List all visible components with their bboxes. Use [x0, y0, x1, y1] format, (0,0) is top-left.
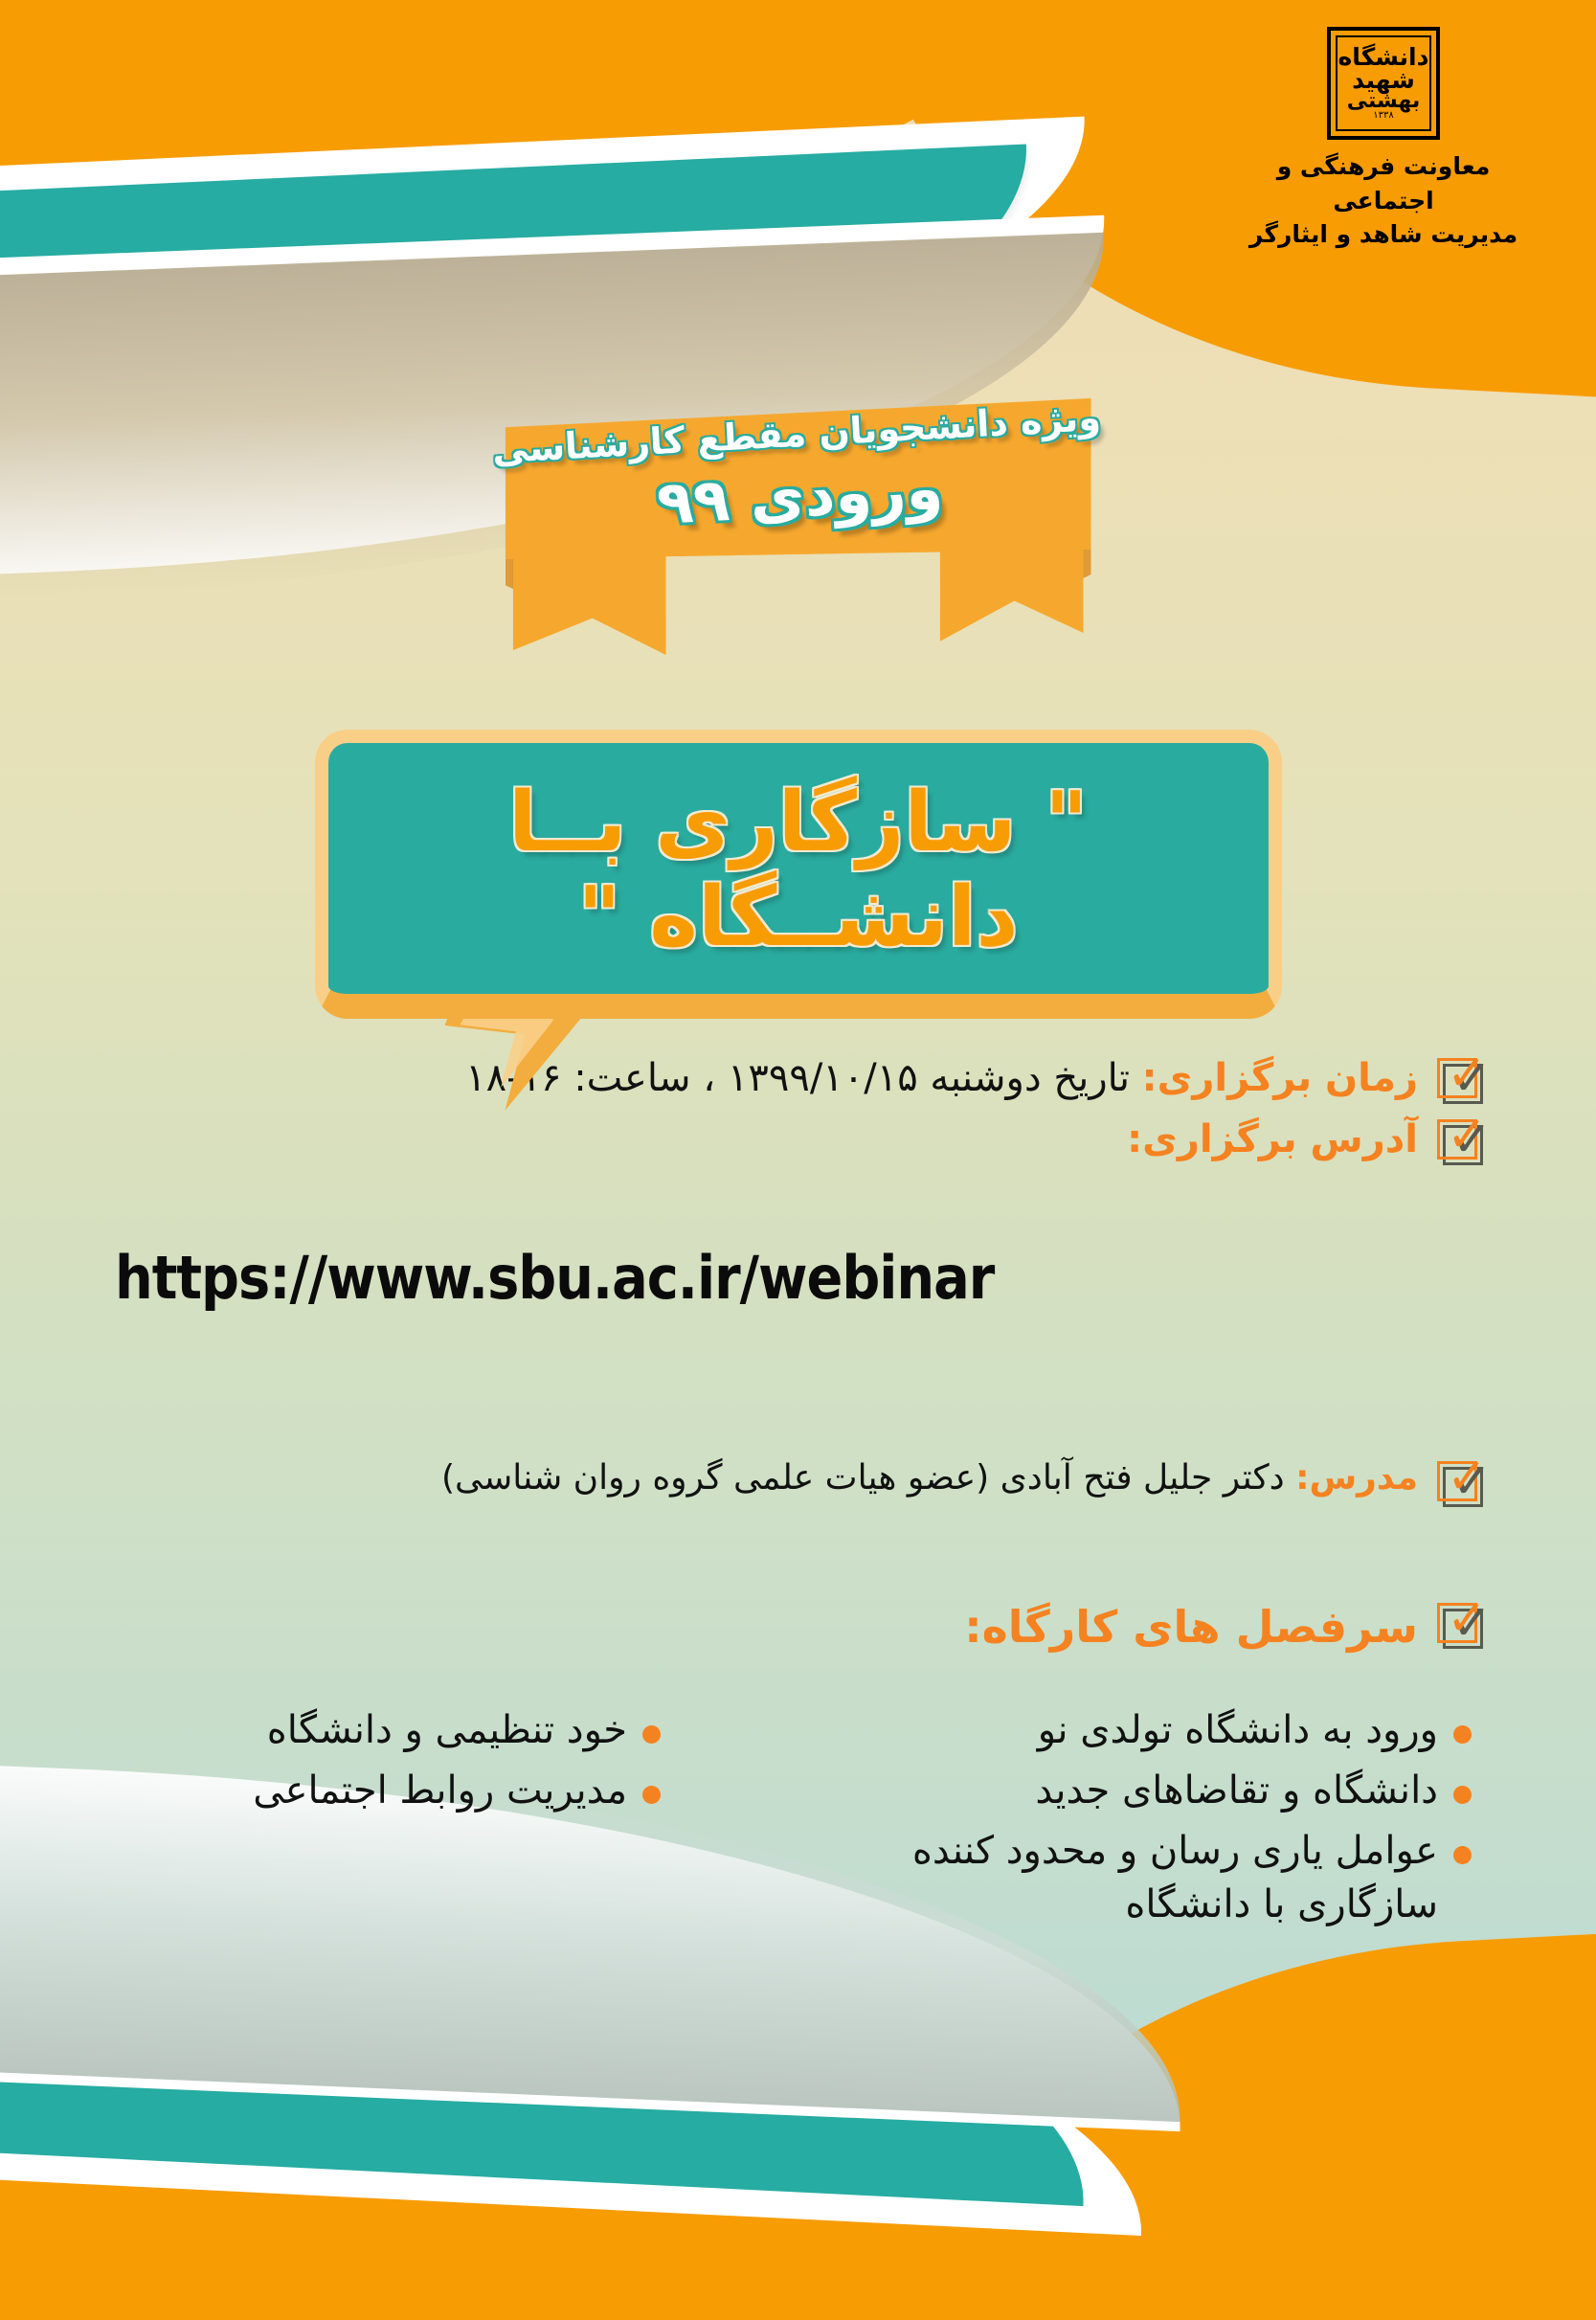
instructor-row: ✓ مدرس: دکتر جلیل فتح آبادی (عضو هیات عل…	[115, 1452, 1481, 1505]
checkbox-checked-icon: ✓	[1435, 1459, 1481, 1505]
checkbox-checked-icon: ✓	[1435, 1117, 1481, 1163]
event-time-row: ✓ زمان برگزاری: تاریخ دوشنبه ۱۳۹۹/۱۰/۱۵ …	[115, 1048, 1481, 1106]
event-address-label: آدرس برگزاری:	[1127, 1117, 1418, 1161]
bottom-right-orange-swoosh	[829, 1920, 1596, 2320]
syllabus-heading-block: ✓ سرفصل های کارگاه:	[115, 1593, 1481, 1663]
bullet-dot-icon	[1453, 1725, 1472, 1744]
logo-line-3: بهشتی	[1347, 92, 1420, 112]
list-item: عوامل یاری رسان و محدود کننده سازگاری با…	[859, 1825, 1472, 1930]
title-speech-bubble: " سازگاری بــا دانشــگاه "	[0, 730, 1596, 1019]
list-item: ورود به دانشگاه تولدی نو	[859, 1704, 1472, 1757]
syllabus-columns: ورود به دانشگاه تولدی نو دانشگاه و تقاضا…	[124, 1704, 1472, 1939]
bottom-right-white-swoosh	[810, 1890, 1596, 2320]
bullet-dot-icon	[1453, 1786, 1472, 1804]
checkbox-checked-icon: ✓	[1435, 1601, 1481, 1647]
instructor-block: ✓ مدرس: دکتر جلیل فتح آبادی (عضو هیات عل…	[115, 1452, 1481, 1509]
event-time-label: زمان برگزاری:	[1142, 1056, 1418, 1100]
bullet-dot-icon	[1453, 1846, 1472, 1864]
org-caption-line-1: معاونت فرهنگی و اجتماعی	[1240, 149, 1527, 217]
logo-year: ۱۳۳۸	[1373, 111, 1393, 121]
event-time-value: تاریخ دوشنبه ۱۳۹۹/۱۰/۱۵ ، ساعت: ۱۶-۱۸	[465, 1056, 1130, 1100]
logo-line-2: شهید	[1352, 69, 1415, 92]
event-details: ✓ زمان برگزاری: تاریخ دوشنبه ۱۳۹۹/۱۰/۱۵ …	[115, 1048, 1481, 1171]
list-item: مدیریت روابط اجتماعی	[124, 1765, 661, 1817]
top-left-orange-band	[0, 0, 1078, 284]
bottom-left-white-stripe	[0, 1887, 1156, 2236]
syllabus-heading-row: ✓ سرفصل های کارگاه:	[115, 1593, 1481, 1659]
poster-canvas: دانشگاه شهید بهشتی ۱۳۳۸ معاونت فرهنگی و …	[0, 0, 1596, 2320]
webinar-url[interactable]: https://www.sbu.ac.ir/webinar	[115, 1243, 994, 1313]
audience-ribbon-banner: ویژه دانشجویان مقطع کارشناسی ورودی ۹۹	[0, 383, 1596, 670]
syllabus-left-column: خود تنظیمی و دانشگاه مدیریت روابط اجتماع…	[124, 1704, 661, 1939]
page-title: " سازگاری بــا دانشــگاه "	[367, 776, 1230, 965]
bullet-dot-icon	[642, 1786, 661, 1804]
bottom-left-orange-band	[0, 2083, 1135, 2320]
syllabus-heading-label: سرفصل های کارگاه:	[964, 1593, 1418, 1659]
syllabus-right-column: ورود به دانشگاه تولدی نو دانشگاه و تقاضا…	[859, 1704, 1472, 1939]
instructor-label: مدرس:	[1295, 1458, 1418, 1498]
checkbox-checked-icon: ✓	[1435, 1056, 1481, 1102]
list-item: خود تنظیمی و دانشگاه	[124, 1704, 661, 1757]
university-logo-block: دانشگاه شهید بهشتی ۱۳۳۸ معاونت فرهنگی و …	[1240, 27, 1527, 252]
bullet-dot-icon	[642, 1725, 661, 1744]
list-item: دانشگاه و تقاضاهای جدید	[859, 1765, 1472, 1817]
org-caption-line-2: مدیریت شاهد و ایثارگر	[1240, 217, 1527, 252]
instructor-value: دکتر جلیل فتح آبادی (عضو هیات علمی گروه …	[441, 1458, 1285, 1498]
event-address-row: ✓ آدرس برگزاری:	[115, 1110, 1481, 1167]
shahid-beheshti-university-logo-icon: دانشگاه شهید بهشتی ۱۳۳۸	[1327, 27, 1440, 140]
